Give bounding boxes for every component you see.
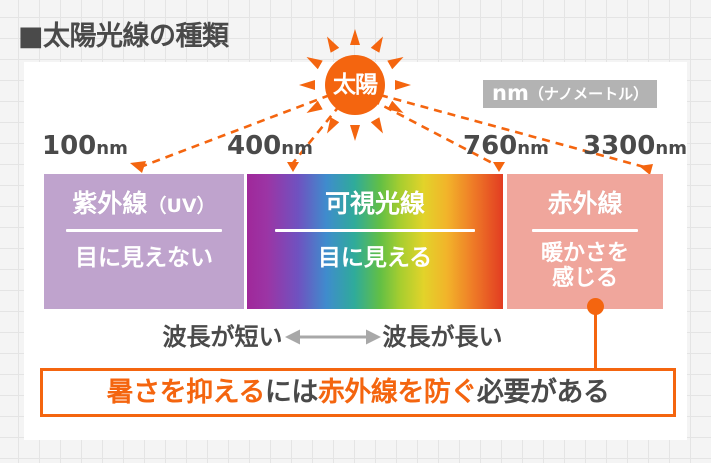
band-subtitle: 暖かさを 感じる <box>541 242 629 292</box>
band-title: 紫外線（UV） <box>72 191 215 216</box>
sun-ray <box>371 117 388 136</box>
wavelength-direction-axis: 波長が短い 波長が長い <box>145 320 520 354</box>
sun-ray <box>323 34 340 53</box>
band-ultraviolet[interactable]: 紫外線（UV） 目に見えない <box>44 174 244 309</box>
wavelength-long-label: 波長が長い <box>383 325 503 349</box>
band-visible-light[interactable]: 可視光線 目に見える <box>247 174 503 309</box>
band-infrared[interactable]: 赤外線 暖かさを 感じる <box>507 174 663 309</box>
band-name: 赤外線 <box>547 189 622 218</box>
sun-ray <box>323 117 340 136</box>
scale-tick-760nm: 760nm <box>463 133 549 159</box>
nm-full: （ナノメートル） <box>529 85 648 103</box>
band-title: 可視光線 <box>325 191 425 216</box>
sun-ray <box>299 80 315 90</box>
sun-ray <box>350 125 360 141</box>
band-subtitle: 目に見えない <box>75 245 213 271</box>
callout-segment-4: 必要がある <box>477 377 610 408</box>
sun-ray <box>350 29 360 45</box>
sun-ray <box>387 53 406 70</box>
sun-ray <box>304 53 323 70</box>
sun-ray <box>395 80 411 90</box>
tick-unit: nm <box>655 138 687 159</box>
band-divider <box>532 229 638 232</box>
scale-tick-100nm: 100nm <box>42 133 128 159</box>
nm-unit-badge: nm（ナノメートル） <box>483 80 657 108</box>
sun-label: 太陽 <box>333 74 377 97</box>
sun-ray <box>387 101 406 118</box>
tick-unit: nm <box>517 138 549 159</box>
page-title: ■太陽光線の種類 <box>18 14 229 53</box>
band-name: 紫外線 <box>72 189 147 218</box>
band-divider <box>66 229 222 232</box>
sun-icon: 太陽 <box>295 25 415 145</box>
band-divider <box>275 229 475 232</box>
band-title: 赤外線 <box>547 191 622 216</box>
callout-segment-2: には <box>265 377 318 408</box>
band-subtitle: 目に見える <box>318 245 432 271</box>
tick-value: 100 <box>42 131 96 161</box>
tick-value: 3300 <box>583 131 655 161</box>
tick-value: 400 <box>227 131 281 161</box>
tick-value: 760 <box>463 131 517 161</box>
conclusion-callout: 暑さを抑えるには赤外線を防ぐ必要がある <box>40 368 676 417</box>
sun-ray <box>304 101 323 118</box>
scale-tick-3300nm: 3300nm <box>583 133 687 159</box>
sun-disc: 太陽 <box>325 55 385 115</box>
sun-ray <box>371 34 388 53</box>
callout-text: 暑さを抑えるには赤外線を防ぐ必要がある <box>107 379 610 406</box>
nm-abbrev: nm <box>492 81 529 105</box>
double-arrow-icon <box>285 327 381 347</box>
scale-tick-400nm: 400nm <box>227 133 313 159</box>
wavelength-short-label: 波長が短い <box>163 325 283 349</box>
band-paren: （UV） <box>147 195 215 217</box>
infrared-connector-line <box>594 306 597 369</box>
band-name: 可視光線 <box>325 189 425 218</box>
tick-unit: nm <box>281 138 313 159</box>
tick-unit: nm <box>96 138 128 159</box>
callout-segment-3: 赤外線を防ぐ <box>318 377 477 408</box>
callout-segment-1: 暑さを抑える <box>107 377 265 408</box>
